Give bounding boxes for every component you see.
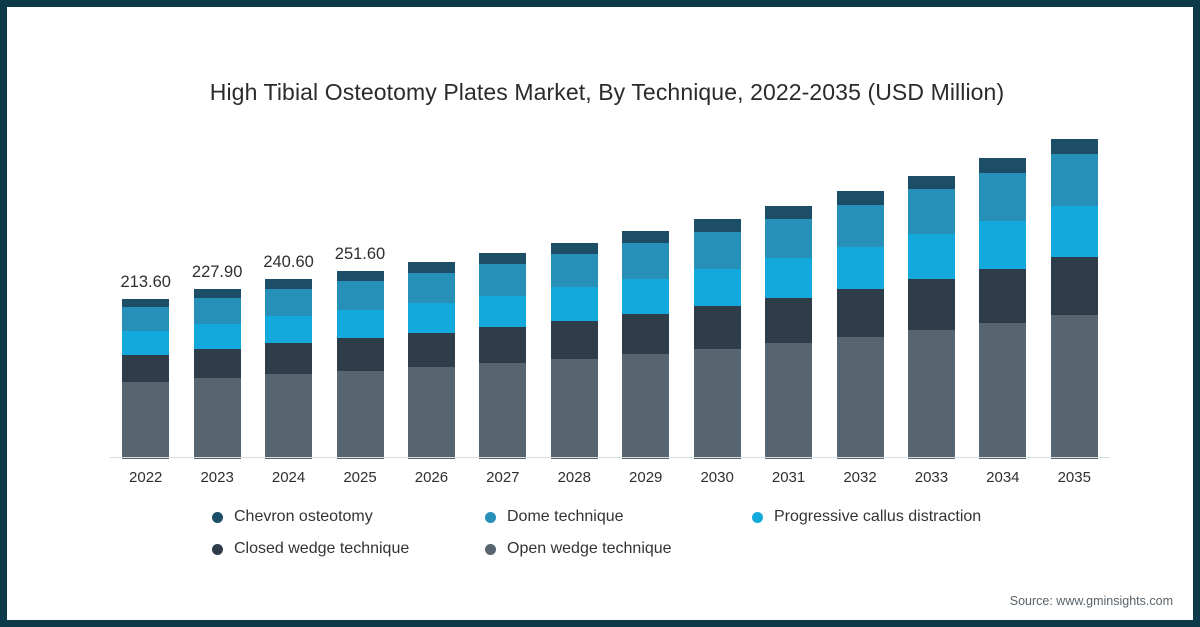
bar-segment[interactable] [194,349,241,378]
bar-segment[interactable] [265,374,312,459]
bar-segment[interactable] [479,253,526,264]
bar-column[interactable] [479,253,526,459]
bar-segment[interactable] [694,349,741,459]
bar-segment[interactable] [194,289,241,298]
bar-segment[interactable] [908,279,955,330]
bar-segment[interactable] [551,254,598,288]
bar-column[interactable] [408,262,455,459]
legend-item-label: Progressive callus distraction [774,508,981,526]
bar-segment[interactable] [694,219,741,231]
bar-segment[interactable] [694,306,741,348]
bar-value-label: 240.60 [263,253,313,272]
bar-segment[interactable] [765,258,812,298]
bar-segment[interactable] [551,359,598,459]
bar-segment[interactable] [479,363,526,459]
bar-segment[interactable] [837,289,884,337]
bar-segment[interactable] [408,367,455,459]
bar-segment[interactable] [337,281,384,310]
bar-segment[interactable] [622,243,669,278]
bar-segment[interactable] [765,343,812,459]
bar-segment[interactable] [337,271,384,281]
bar-segment[interactable] [408,262,455,273]
chart-frame: High Tibial Osteotomy Plates Market, By … [0,0,1200,627]
bar-segment[interactable] [1051,139,1098,154]
legend-row-1: Chevron osteotomyDome techniqueProgressi… [7,501,1200,533]
bar-segment[interactable] [122,299,169,307]
bar-segment[interactable] [337,310,384,339]
bar-value-label: 213.60 [120,273,170,292]
bar-segment[interactable] [765,219,812,259]
bar-column[interactable]: 227.90 [194,289,241,460]
bar-column[interactable] [694,219,741,459]
legend: Chevron osteotomyDome techniqueProgressi… [7,501,1200,565]
bar-segment[interactable] [765,298,812,343]
source-credit: Source: www.gminsights.com [1010,594,1173,608]
bar-segment[interactable] [1051,154,1098,205]
bar-segment[interactable] [622,231,669,243]
bar-segment[interactable] [122,307,169,331]
legend-color-dot-icon [485,512,496,523]
bar-segment[interactable] [265,289,312,316]
legend-item-label: Dome technique [507,508,624,526]
legend-item[interactable]: Progressive callus distraction [752,501,981,533]
x-axis-tick-label: 2035 [1029,469,1119,486]
legend-color-dot-icon [485,544,496,555]
bar-segment[interactable] [979,221,1026,269]
bar-segment[interactable] [551,321,598,359]
bar-segment[interactable] [122,382,169,459]
bar-segment[interactable] [122,355,169,382]
bar-column[interactable]: 240.60 [265,279,312,459]
bar-segment[interactable] [908,176,955,190]
bar-segment[interactable] [337,338,384,370]
bar-segment[interactable] [979,173,1026,221]
bar-segment[interactable] [837,191,884,204]
legend-color-dot-icon [752,512,763,523]
bar-segment[interactable] [837,337,884,459]
legend-color-dot-icon [212,512,223,523]
bar-segment[interactable] [265,316,312,343]
bar-segment[interactable] [479,327,526,363]
bar-segment[interactable] [1051,257,1098,315]
legend-item[interactable]: Chevron osteotomy [212,501,373,533]
legend-item[interactable]: Open wedge technique [485,533,672,565]
bar-segment[interactable] [908,189,955,234]
bar-segment[interactable] [979,158,1026,173]
bar-segment[interactable] [408,333,455,367]
bar-segment[interactable] [765,206,812,219]
bar-segment[interactable] [1051,315,1098,459]
bar-segment[interactable] [194,324,241,350]
legend-color-dot-icon [212,544,223,555]
bar-segment[interactable] [694,269,741,306]
bar-column[interactable] [979,158,1026,459]
page-title: High Tibial Osteotomy Plates Market, By … [7,79,1200,106]
bar-column[interactable] [908,176,955,459]
bar-segment[interactable] [1051,206,1098,257]
bar-segment[interactable] [194,298,241,324]
bar-segment[interactable] [694,232,741,269]
x-axis-line [110,457,1110,458]
bar-segment[interactable] [194,378,241,459]
bar-segment[interactable] [479,296,526,328]
plot-area: 213.60227.90240.60251.60 [110,117,1110,459]
bar-segment[interactable] [265,279,312,289]
bar-column[interactable] [622,231,669,459]
bar-segment[interactable] [979,269,1026,324]
bar-column[interactable] [837,191,884,459]
bar-segment[interactable] [122,331,169,355]
bar-segment[interactable] [408,303,455,333]
bar-segment[interactable] [622,279,669,314]
legend-row-2: Closed wedge techniqueOpen wedge techniq… [7,533,1200,565]
legend-item-label: Open wedge technique [507,540,672,558]
bar-segment[interactable] [979,323,1026,459]
legend-item[interactable]: Closed wedge technique [212,533,409,565]
bar-segment[interactable] [908,234,955,279]
bar-segment[interactable] [408,273,455,303]
bar-segment[interactable] [337,371,384,459]
bar-segment[interactable] [837,205,884,247]
bar-column[interactable]: 251.60 [337,271,384,459]
bar-column[interactable] [551,243,598,459]
legend-item-label: Closed wedge technique [234,540,409,558]
bar-segment[interactable] [551,287,598,320]
bar-segment[interactable] [908,330,955,459]
bar-column[interactable]: 213.60 [122,299,169,459]
bar-value-label: 227.90 [192,263,242,282]
bar-segment[interactable] [837,247,884,289]
bar-segment[interactable] [479,264,526,296]
bar-value-label: 251.60 [335,245,385,264]
bar-segment[interactable] [622,354,669,459]
bar-column[interactable] [765,206,812,459]
legend-item-label: Chevron osteotomy [234,508,373,526]
legend-item[interactable]: Dome technique [485,501,624,533]
bar-segment[interactable] [551,243,598,254]
bar-segment[interactable] [265,343,312,374]
bar-segment[interactable] [622,314,669,354]
bar-column[interactable] [1051,139,1098,459]
